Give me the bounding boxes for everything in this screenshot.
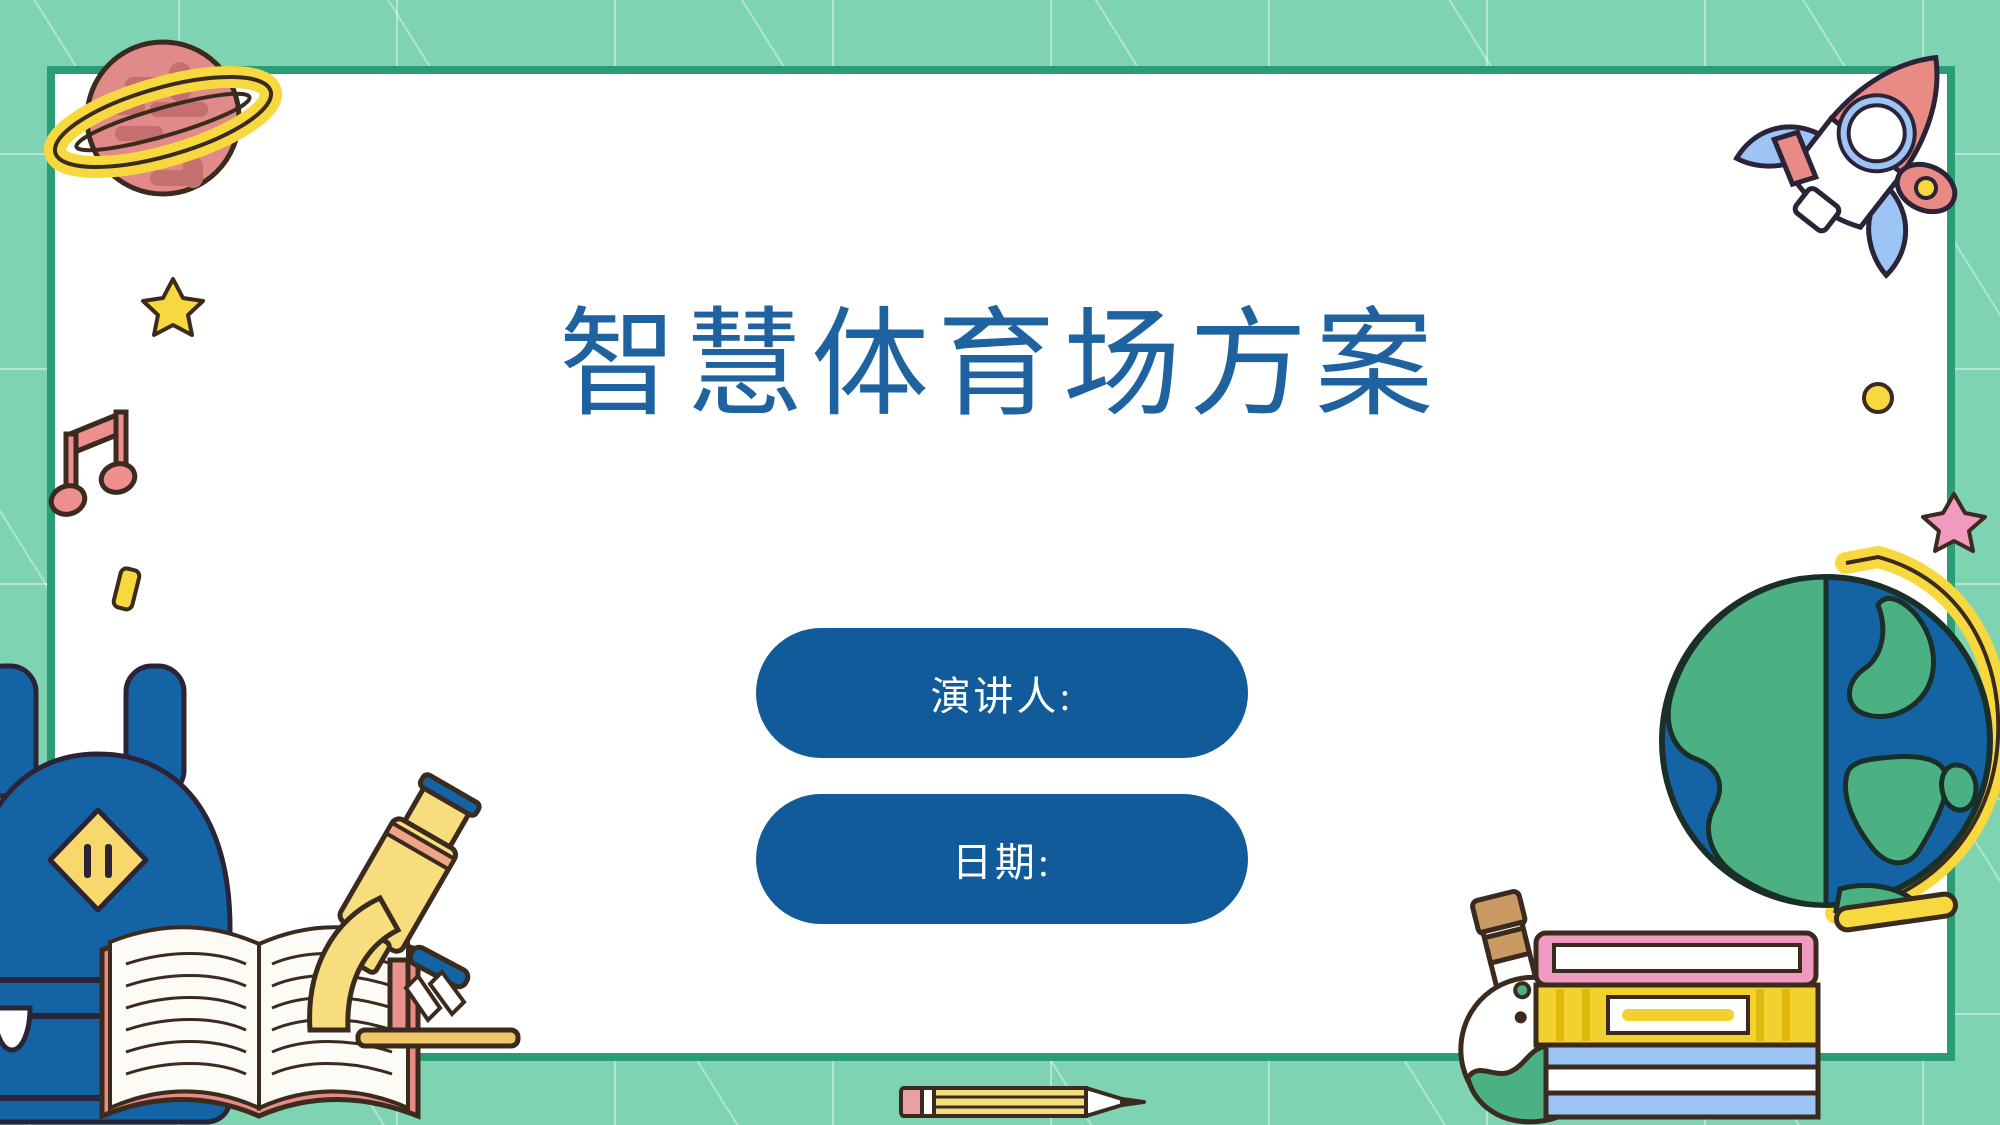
pencil-icon	[900, 1078, 1160, 1125]
saturn-planet-icon	[30, 22, 290, 222]
presentation-slide: 智慧体育场方案 演讲人: 日期:	[0, 0, 2000, 1125]
yellow-tag-icon	[114, 566, 140, 612]
date-field[interactable]: 日期:	[756, 794, 1248, 924]
speaker-label: 演讲人:	[930, 664, 1073, 722]
book-stack-icon	[1528, 925, 1828, 1125]
page-title: 智慧体育场方案	[0, 296, 2000, 435]
microscope-icon	[288, 780, 518, 1050]
pink-star-icon	[1922, 490, 1986, 552]
rocket-icon	[1748, 28, 1998, 248]
speaker-field[interactable]: 演讲人:	[756, 628, 1248, 758]
globe-icon	[1640, 545, 2000, 965]
date-label: 日期:	[952, 830, 1052, 888]
